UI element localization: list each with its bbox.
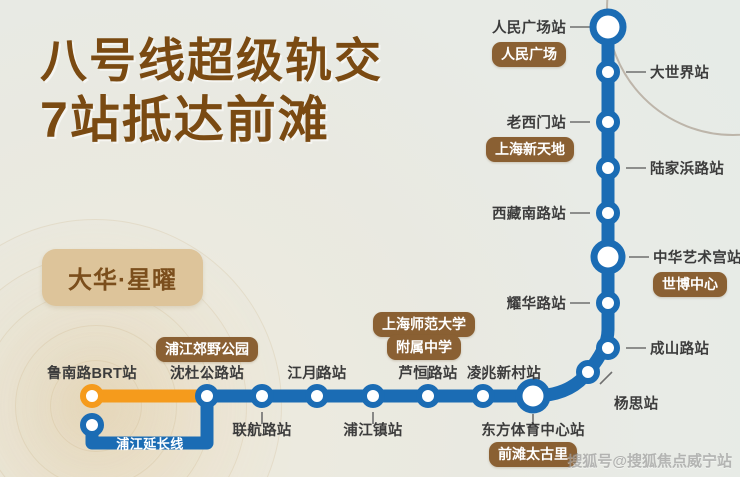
station-dot-luheng-lu[interactable] bbox=[419, 387, 437, 405]
station-label-zhonghua-yishugong[interactable]: 中华艺术宫站 bbox=[653, 247, 740, 268]
station-dot-dongfang-tiyu-zhongxin[interactable] bbox=[519, 382, 547, 410]
station-dot-lujiabang-lu[interactable] bbox=[599, 159, 617, 177]
station-label-laoximen[interactable]: 老西门站 bbox=[507, 112, 566, 133]
poi-badge-shishifu-line2: 附属中学 bbox=[387, 335, 461, 360]
station-dot-yaohua-lu[interactable] bbox=[599, 294, 617, 312]
station-dot-renmin-guangchang[interactable] bbox=[593, 12, 623, 42]
station-dot-lianhang-lu[interactable] bbox=[253, 387, 271, 405]
station-dot-zhonghua-yishugong[interactable] bbox=[594, 243, 622, 271]
station-label-yaohua-lu[interactable]: 耀华路站 bbox=[507, 293, 566, 314]
station-label-jiangyue-lu[interactable]: 江月路站 bbox=[287, 362, 346, 383]
station-label-lunan-lu-brt[interactable]: 鲁南路BRT站 bbox=[47, 362, 137, 383]
station-label-renmin-guangchang[interactable]: 人民广场站 bbox=[492, 17, 566, 38]
station-dot-shendu-gonglu[interactable] bbox=[198, 387, 216, 405]
poi-badge-renmin-guangchang: 人民广场 bbox=[492, 42, 566, 67]
branch-line-caption: 浦江延长线 bbox=[116, 434, 184, 453]
poi-badge-pujiang-jiaoye-gongyuan: 浦江郊野公园 bbox=[156, 337, 258, 362]
project-name-label: 大华·星曜 bbox=[68, 267, 177, 294]
headline-line-1: 八号线超级轨交 bbox=[40, 36, 383, 86]
station-label-lianhang-lu[interactable]: 联航路站 bbox=[232, 419, 291, 440]
station-dot-lunan-lu-brt[interactable] bbox=[83, 387, 101, 405]
station-dot-laoximen[interactable] bbox=[599, 113, 617, 131]
station-dot-dashijie[interactable] bbox=[599, 63, 617, 81]
station-dot-chengshan-lu[interactable] bbox=[599, 339, 617, 357]
station-dot-xizang-nan-lu[interactable] bbox=[599, 204, 617, 222]
project-name-badge: 大华·星曜 bbox=[42, 249, 203, 306]
station-label-dongfang-tiyu-zhongxin[interactable]: 东方体育中心站 bbox=[481, 419, 585, 440]
headline-block: 八号线超级轨交 7站抵达前滩 bbox=[40, 36, 383, 147]
station-label-dashijie[interactable]: 大世界站 bbox=[650, 62, 709, 83]
poi-badge-shishifu-line1: 上海师范大学 bbox=[373, 312, 475, 337]
station-label-shendu-gonglu[interactable]: 沈杜公路站 bbox=[170, 362, 244, 383]
headline-line-2: 7站抵达前滩 bbox=[40, 94, 383, 147]
station-label-xizang-nan-lu[interactable]: 西藏南路站 bbox=[492, 203, 566, 224]
metro-line-poster: 八号线超级轨交 7站抵达前滩 大华·星曜 bbox=[0, 0, 740, 477]
station-label-yangsi[interactable]: 杨思站 bbox=[614, 393, 658, 414]
watermark-text: 搜狐号@搜狐焦点威宁站 bbox=[567, 450, 732, 471]
station-label-lingzhao-xincun[interactable]: 凌兆新村站 bbox=[467, 362, 541, 383]
station-dot-lingzhao-xincun[interactable] bbox=[474, 387, 492, 405]
station-dot-jiangyue-lu[interactable] bbox=[308, 387, 326, 405]
station-label-lujiabang-lu[interactable]: 陆家浜路站 bbox=[650, 158, 724, 179]
station-label-pujiang-zhen[interactable]: 浦江镇站 bbox=[343, 419, 402, 440]
station-dot-pujiang-zhen[interactable] bbox=[364, 387, 382, 405]
station-label-luheng-lu[interactable]: 芦恒路站 bbox=[398, 362, 457, 383]
station-dot-yangsi[interactable] bbox=[579, 363, 597, 381]
poi-badge-shibo-zhongxin: 世博中心 bbox=[653, 272, 727, 297]
poi-badge-qiantan-taikoo-li: 前滩太古里 bbox=[489, 442, 577, 467]
station-dot-branch-terminus[interactable] bbox=[83, 416, 101, 434]
poi-badge-xintiandi: 上海新天地 bbox=[486, 137, 574, 162]
station-label-chengshan-lu[interactable]: 成山路站 bbox=[650, 338, 709, 359]
